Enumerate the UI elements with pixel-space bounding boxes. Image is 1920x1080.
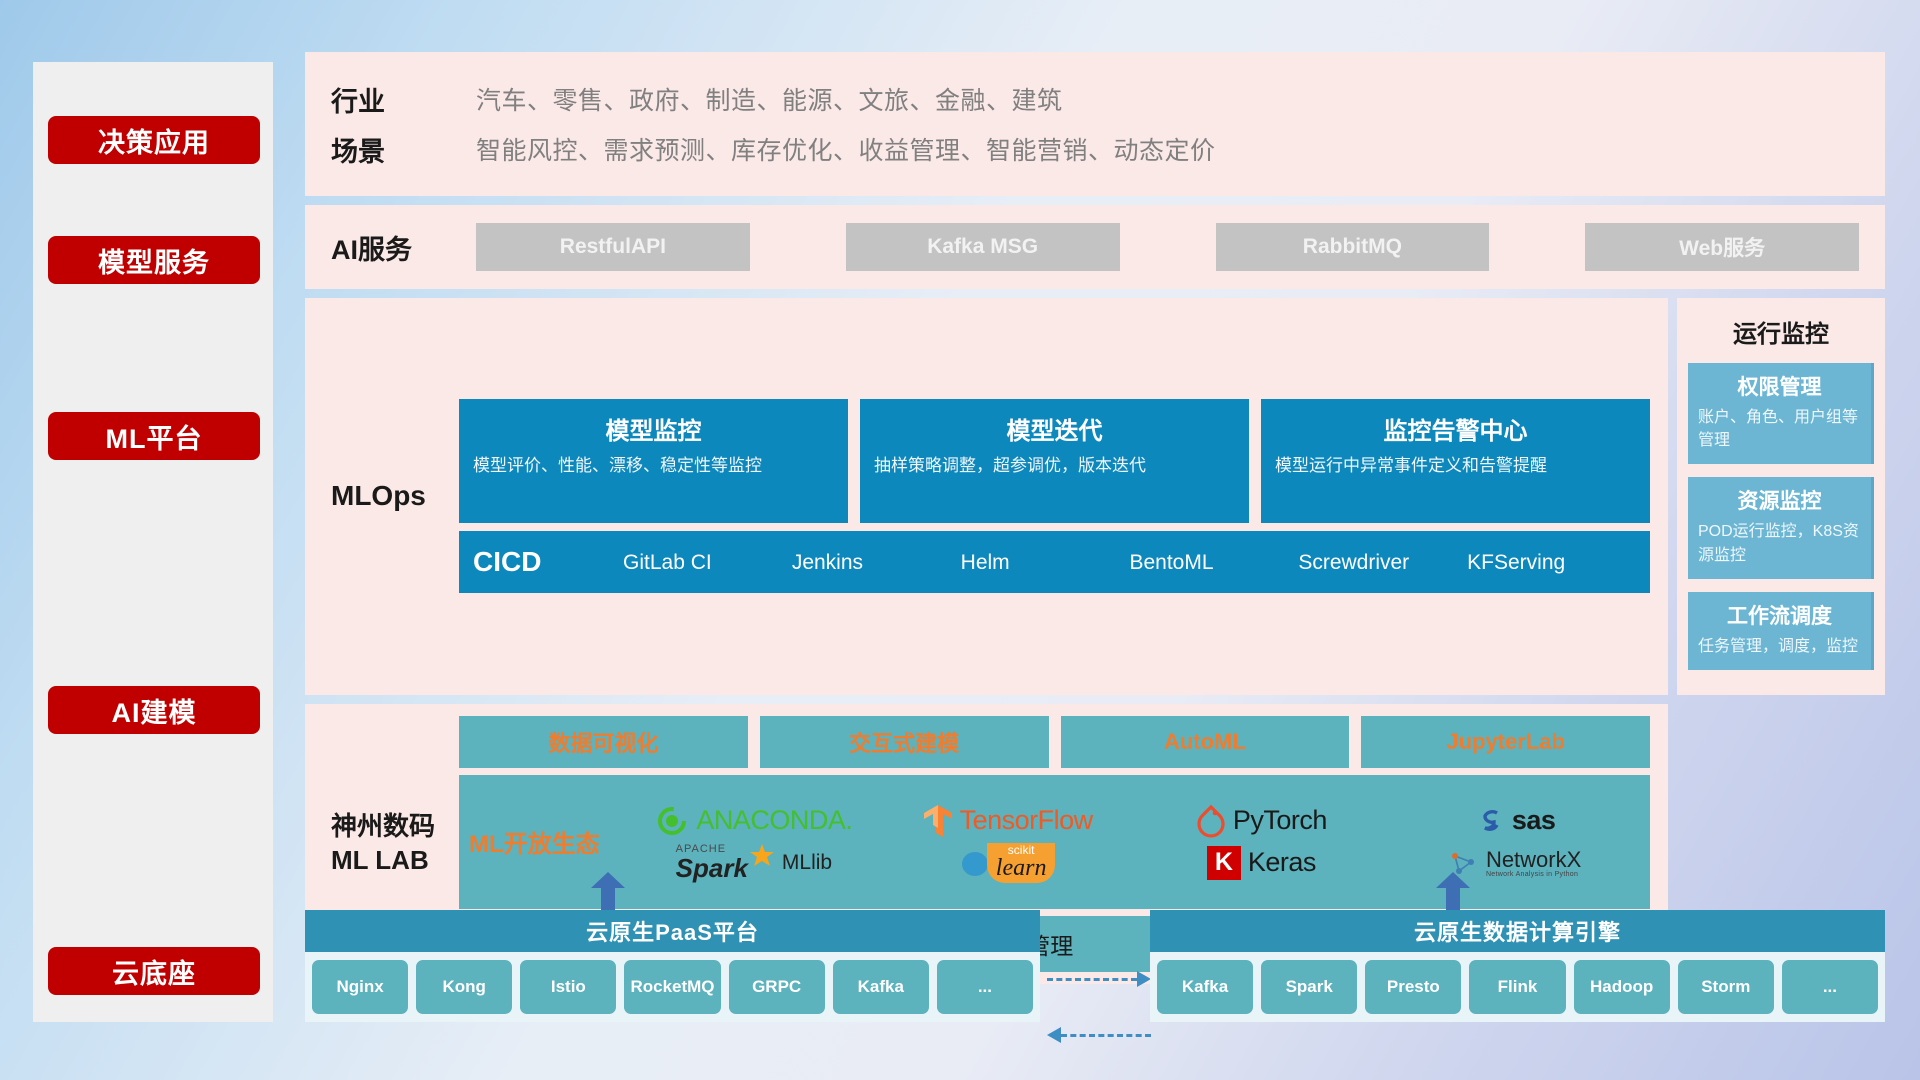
cloud-paas-panel: 云原生PaaS平台 Nginx Kong Istio RocketMQ GRPC…: [305, 910, 1040, 1022]
mlops-content: 模型监控 模型评价、性能、漂移、稳定性等监控 模型迭代 抽样策略调整，超参调优，…: [459, 399, 1650, 593]
anaconda-logo: ANACONDA.: [655, 804, 852, 838]
ml-lab-label: 神州数码 ML LAB: [331, 810, 459, 878]
scikit-learn-logo: scikit learn: [960, 843, 1056, 883]
keras-k-letter: K: [1215, 848, 1233, 877]
ai-service-label: AI服务: [331, 228, 476, 267]
stage-column: 决策应用 模型服务 ML平台 AI建模 云底座: [33, 62, 273, 1022]
card-desc: 模型评价、性能、漂移、稳定性等监控: [473, 454, 834, 479]
scikit-blue-blob-icon: [960, 848, 990, 878]
chip-more-compute[interactable]: ...: [1782, 960, 1878, 1014]
chip-hadoop[interactable]: Hadoop: [1574, 960, 1670, 1014]
cloud-compute-panel: 云原生数据计算引擎 Kafka Spark Presto Flink Hadoo…: [1150, 910, 1885, 1022]
mlops-card-list: 模型监控 模型评价、性能、漂移、稳定性等监控 模型迭代 抽样策略调整，超参调优，…: [459, 399, 1650, 523]
spark-wordmark: Spark: [676, 855, 748, 881]
card-desc: 任务管理，调度，监控: [1698, 635, 1861, 658]
cloud-compute-chip-list: Kafka Spark Presto Flink Hadoop Storm ..…: [1150, 952, 1885, 1022]
card-title: 模型迭代: [874, 411, 1235, 446]
cicd-item-bentoml[interactable]: BentoML: [1129, 552, 1298, 573]
tensorflow-logo: TensorFlow: [923, 803, 1093, 839]
card-title: 权限管理: [1698, 371, 1861, 401]
stage-pill-ml-platform[interactable]: ML平台: [48, 412, 260, 460]
keras-logo: K Keras: [1207, 846, 1316, 880]
card-desc: 账户、角色、用户组等管理: [1698, 406, 1861, 452]
sas-mark-icon: [1475, 806, 1505, 836]
ml-lab-label-line1: 神州数码: [331, 810, 459, 844]
cloud-paas-chip-list: Nginx Kong Istio RocketMQ GRPC Kafka ...: [305, 952, 1040, 1022]
scenario-label: 场景: [331, 130, 476, 169]
card-title: 监控告警中心: [1275, 411, 1636, 446]
mlops-band: MLOps 模型监控 模型评价、性能、漂移、稳定性等监控 模型迭代 抽样策略调整…: [305, 298, 1668, 695]
ecosystem-logo-grid: ANACONDA. TensorFlow: [629, 801, 1640, 883]
card-title: 模型监控: [473, 411, 834, 446]
service-restful-api[interactable]: RestfulAPI: [476, 223, 750, 271]
chip-grpc[interactable]: GRPC: [729, 960, 825, 1014]
cicd-label: CICD: [473, 546, 623, 578]
monitor-card-workflow[interactable]: 工作流调度 任务管理，调度，监控: [1688, 592, 1874, 670]
tensorflow-wordmark: TensorFlow: [960, 805, 1093, 836]
monitor-card-resource[interactable]: 资源监控 POD运行监控，K8S资源监控: [1688, 477, 1874, 578]
tool-interactive-modeling[interactable]: 交互式建模: [760, 716, 1049, 768]
cicd-item-jenkins[interactable]: Jenkins: [792, 552, 961, 573]
service-web[interactable]: Web服务: [1585, 223, 1859, 271]
sas-wordmark: sas: [1512, 805, 1556, 836]
scenario-list: 智能风控、需求预测、库存优化、收益管理、智能营销、动态定价: [476, 131, 1216, 167]
monitor-card-permission[interactable]: 权限管理 账户、角色、用户组等管理: [1688, 363, 1874, 464]
runtime-monitor-title: 运行监控: [1688, 314, 1874, 349]
mlops-card-model-iteration[interactable]: 模型迭代 抽样策略调整，超参调优，版本迭代: [860, 399, 1249, 523]
pytorch-flame-icon: [1196, 804, 1226, 838]
card-title: 工作流调度: [1698, 600, 1861, 630]
card-desc: 抽样策略调整，超参调优，版本迭代: [874, 454, 1235, 479]
card-title: 资源监控: [1698, 485, 1861, 515]
chip-nginx[interactable]: Nginx: [312, 960, 408, 1014]
mlops-card-model-monitoring[interactable]: 模型监控 模型评价、性能、漂移、稳定性等监控: [459, 399, 848, 523]
chip-flink[interactable]: Flink: [1469, 960, 1565, 1014]
chip-more-paas[interactable]: ...: [937, 960, 1033, 1014]
pytorch-logo: PyTorch: [1196, 804, 1327, 838]
cloud-paas-title: 云原生PaaS平台: [305, 910, 1040, 952]
cicd-item-kfserving[interactable]: KFServing: [1467, 552, 1636, 573]
mlops-label: MLOps: [331, 480, 459, 512]
ml-lab-label-line2: ML LAB: [331, 844, 459, 878]
chip-kong[interactable]: Kong: [416, 960, 512, 1014]
chip-kafka[interactable]: Kafka: [833, 960, 929, 1014]
scikit-orange-blob-icon: scikit learn: [987, 843, 1056, 883]
runtime-monitor-column: 运行监控 权限管理 账户、角色、用户组等管理 资源监控 POD运行监控，K8S资…: [1677, 298, 1885, 695]
scenario-row: 场景 智能风控、需求预测、库存优化、收益管理、智能营销、动态定价: [331, 124, 1859, 174]
card-desc: 模型运行中异常事件定义和告警提醒: [1275, 454, 1636, 479]
spark-star-icon: [749, 843, 775, 869]
tensorflow-mark-icon: [923, 803, 953, 839]
anaconda-mark-icon: [655, 804, 689, 838]
chip-istio[interactable]: Istio: [520, 960, 616, 1014]
networkx-tagline: Network Analysis in Python: [1486, 871, 1581, 878]
cicd-item-helm[interactable]: Helm: [961, 552, 1130, 573]
stage-pill-decision-application[interactable]: 决策应用: [48, 116, 260, 164]
cicd-strip: CICD GitLab CI Jenkins Helm BentoML Scre…: [459, 531, 1650, 593]
application-band: 行业 汽车、零售、政府、制造、能源、文旅、金融、建筑 场景 智能风控、需求预测、…: [305, 52, 1885, 196]
cicd-item-list: GitLab CI Jenkins Helm BentoML Screwdriv…: [623, 552, 1636, 573]
tool-jupyterlab[interactable]: JupyterLab: [1361, 716, 1650, 768]
tool-automl[interactable]: AutoML: [1061, 716, 1350, 768]
up-arrow-paas-icon: [591, 872, 625, 910]
keras-wordmark: Keras: [1248, 847, 1316, 878]
mlops-row: MLOps 模型监控 模型评价、性能、漂移、稳定性等监控 模型迭代 抽样策略调整…: [305, 298, 1885, 695]
chip-kafka-compute[interactable]: Kafka: [1157, 960, 1253, 1014]
chip-rocketmq[interactable]: RocketMQ: [624, 960, 720, 1014]
cloud-base-section: 云原生PaaS平台 Nginx Kong Istio RocketMQ GRPC…: [305, 886, 1885, 1046]
industry-list: 汽车、零售、政府、制造、能源、文旅、金融、建筑: [476, 81, 1063, 117]
ai-service-list: RestfulAPI Kafka MSG RabbitMQ Web服务: [476, 223, 1859, 271]
ml-open-ecosystem-label: ML开放生态: [469, 824, 629, 859]
service-kafka-msg[interactable]: Kafka MSG: [846, 223, 1120, 271]
ml-lab-tool-list: 数据可视化 交互式建模 AutoML JupyterLab: [459, 716, 1650, 768]
service-rabbitmq[interactable]: RabbitMQ: [1216, 223, 1490, 271]
networkx-wordmark: NetworkX: [1486, 848, 1581, 871]
mllib-wordmark: MLlib: [782, 851, 832, 875]
main-content: 行业 汽车、零售、政府、制造、能源、文旅、金融、建筑 场景 智能风控、需求预测、…: [305, 52, 1885, 993]
stage-pill-ai-modeling[interactable]: AI建模: [48, 686, 260, 734]
tool-data-visualization[interactable]: 数据可视化: [459, 716, 748, 768]
chip-presto[interactable]: Presto: [1365, 960, 1461, 1014]
card-desc: POD运行监控，K8S资源监控: [1698, 520, 1861, 566]
anaconda-wordmark: ANACONDA.: [696, 805, 852, 836]
pytorch-wordmark: PyTorch: [1233, 805, 1327, 836]
chip-spark[interactable]: Spark: [1261, 960, 1357, 1014]
cicd-item-screwdriver[interactable]: Screwdriver: [1298, 552, 1467, 573]
industry-row: 行业 汽车、零售、政府、制造、能源、文旅、金融、建筑: [331, 74, 1859, 124]
chip-storm[interactable]: Storm: [1678, 960, 1774, 1014]
architecture-diagram: 决策应用 模型服务 ML平台 AI建模 云底座 行业 汽车、零售、政府、制造、能…: [0, 0, 1920, 1080]
spark-mllib-logo: APACHE Spark MLlib: [676, 844, 832, 881]
mlops-card-alert-center[interactable]: 监控告警中心 模型运行中异常事件定义和告警提醒: [1261, 399, 1650, 523]
sas-logo: sas: [1475, 805, 1556, 836]
cloud-compute-title: 云原生数据计算引擎: [1150, 910, 1885, 952]
keras-mark-icon: K: [1207, 846, 1241, 880]
stage-pill-cloud-base[interactable]: 云底座: [48, 947, 260, 995]
ai-service-band: AI服务 RestfulAPI Kafka MSG RabbitMQ Web服务: [305, 205, 1885, 289]
industry-label: 行业: [331, 80, 476, 119]
up-arrow-compute-icon: [1436, 872, 1470, 910]
learn-wordmark: learn: [996, 856, 1047, 880]
stage-pill-model-service[interactable]: 模型服务: [48, 236, 260, 284]
cicd-item-gitlab-ci[interactable]: GitLab CI: [623, 552, 792, 573]
